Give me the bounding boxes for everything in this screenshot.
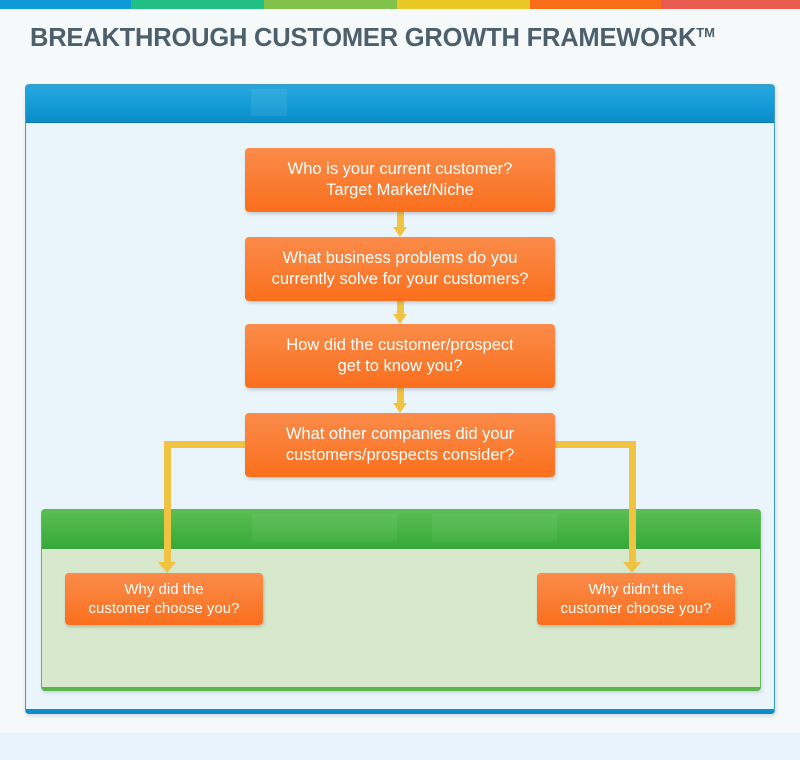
flow-arrow-step2-step3 (393, 301, 407, 324)
framework-panel-header-textbox[interactable] (251, 89, 287, 116)
page-title: BREAKTHROUGH CUSTOMER GROWTH FRAMEWORKTM (30, 24, 715, 53)
branch-connector-left-horizontal (164, 441, 248, 448)
flow-step-1-line2: Target Market/Niche (326, 181, 474, 199)
flow-arrow-step1-step2 (393, 212, 407, 237)
outcome-left-text: Why did the customer choose you? (89, 580, 240, 619)
page-title-text: BREAKTHROUGH CUSTOMER GROWTH FRAMEWORK (30, 24, 696, 52)
arrow-stem (397, 212, 404, 227)
flow-step-1-line1: Who is your current customer? (288, 160, 513, 178)
page-bottom-band (0, 733, 800, 760)
arrow-head (393, 227, 407, 237)
flow-step-3[interactable]: How did the customer/prospect get to kno… (245, 324, 555, 388)
outcome-left-line1: Why did the (124, 581, 203, 598)
color-segment-green (264, 0, 397, 9)
flow-arrow-step3-step4 (393, 388, 407, 413)
outcome-right-text: Why didn’t the customer choose you? (561, 580, 712, 619)
flow-step-1-text: Who is your current customer? Target Mar… (288, 159, 513, 202)
outcome-left-line2: customer choose you? (89, 600, 240, 617)
outcome-box-did-not-choose-you[interactable]: Why didn’t the customer choose you? (537, 573, 735, 625)
outcome-right-line1: Why didn’t the (588, 581, 683, 598)
outcomes-header-textbox-right[interactable] (432, 514, 557, 542)
framework-panel-header (26, 85, 774, 123)
flow-step-4[interactable]: What other companies did your customers/… (245, 413, 555, 477)
flow-step-2-text: What business problems do you currently … (272, 248, 529, 291)
branch-arrowhead-left (158, 562, 176, 573)
flow-step-3-line1: How did the customer/prospect (286, 336, 513, 354)
branch-connector-right-horizontal (552, 441, 636, 448)
outcome-box-chose-you[interactable]: Why did the customer choose you? (65, 573, 263, 625)
outcome-right-line2: customer choose you? (561, 600, 712, 617)
outcomes-header-textbox-left[interactable] (252, 514, 397, 542)
trademark-symbol: TM (696, 25, 715, 40)
flow-step-3-text: How did the customer/prospect get to kno… (286, 335, 513, 378)
color-segment-red (661, 0, 800, 9)
flow-step-1[interactable]: Who is your current customer? Target Mar… (245, 148, 555, 212)
top-color-strip (0, 0, 800, 9)
outcomes-panel-header (42, 510, 760, 549)
flow-step-4-text: What other companies did your customers/… (286, 424, 514, 467)
arrow-stem (397, 388, 404, 403)
color-segment-teal (131, 0, 264, 9)
arrow-head (393, 403, 407, 413)
flow-step-2-line2: currently solve for your customers? (272, 270, 529, 288)
color-segment-yellow (397, 0, 530, 9)
flow-step-4-line2: customers/prospects consider? (286, 446, 514, 464)
color-segment-orange (530, 0, 661, 9)
branch-connector-right-vertical (629, 441, 636, 564)
color-segment-blue (0, 0, 131, 9)
flow-step-2[interactable]: What business problems do you currently … (245, 237, 555, 301)
flow-step-2-line1: What business problems do you (283, 249, 518, 267)
flow-step-4-line1: What other companies did your (286, 425, 514, 443)
branch-connector-left-vertical (164, 441, 171, 564)
branch-arrowhead-right (623, 562, 641, 573)
arrow-head (393, 314, 407, 324)
arrow-stem (397, 301, 404, 314)
flow-step-3-line2: get to know you? (338, 357, 463, 375)
